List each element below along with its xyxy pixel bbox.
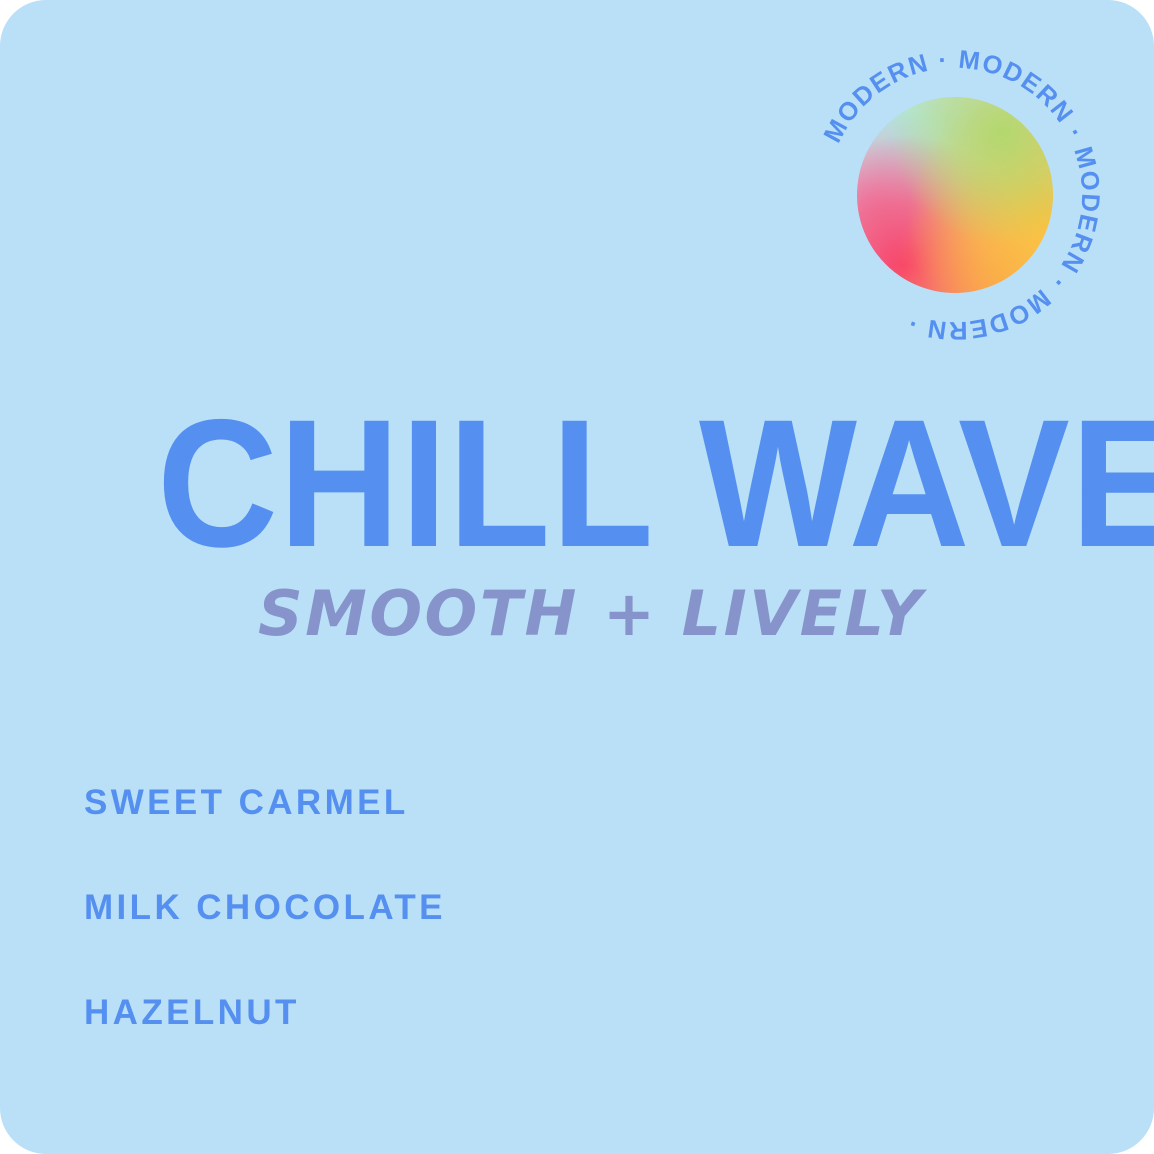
flavor-notes-list: SWEET CARMEL MILK CHOCOLATE HAZELNUT xyxy=(84,785,904,1030)
flavor-note-item: HAZELNUT xyxy=(84,995,904,1030)
subtitle: SMOOTH + LIVELY xyxy=(258,578,924,650)
gradient-sphere xyxy=(857,97,1053,293)
modern-badge: MODERN · MODERN · MODERN · MODERN · xyxy=(805,45,1105,345)
coffee-label-card: MODERN · MODERN · MODERN · MODERN · CHIL… xyxy=(0,0,1154,1154)
flavor-note-item: MILK CHOCOLATE xyxy=(84,890,904,925)
page-title: CHILL WAVE xyxy=(157,392,1007,574)
flavor-note-item: SWEET CARMEL xyxy=(84,785,904,820)
page-title-text: CHILL WAVE xyxy=(157,392,1154,574)
